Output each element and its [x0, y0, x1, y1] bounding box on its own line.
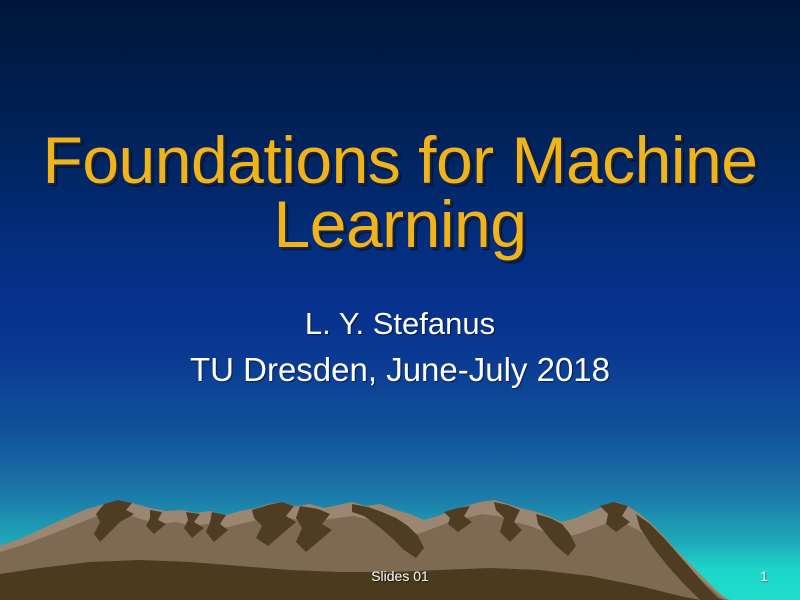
- presentation-slide: Foundations for Machine Learning L. Y. S…: [0, 0, 800, 600]
- slide-footer-label: Slides 01: [0, 568, 800, 584]
- slide-title: Foundations for Machine Learning: [0, 128, 800, 256]
- title-line-2: Learning: [0, 192, 800, 256]
- slide-page-number: 1: [760, 568, 768, 584]
- subtitle-venue-date: TU Dresden, June-July 2018: [0, 346, 800, 394]
- title-line-1: Foundations for Machine: [0, 128, 800, 192]
- slide-subtitle: L. Y. Stefanus TU Dresden, June-July 201…: [0, 302, 800, 394]
- subtitle-author: L. Y. Stefanus: [0, 302, 800, 346]
